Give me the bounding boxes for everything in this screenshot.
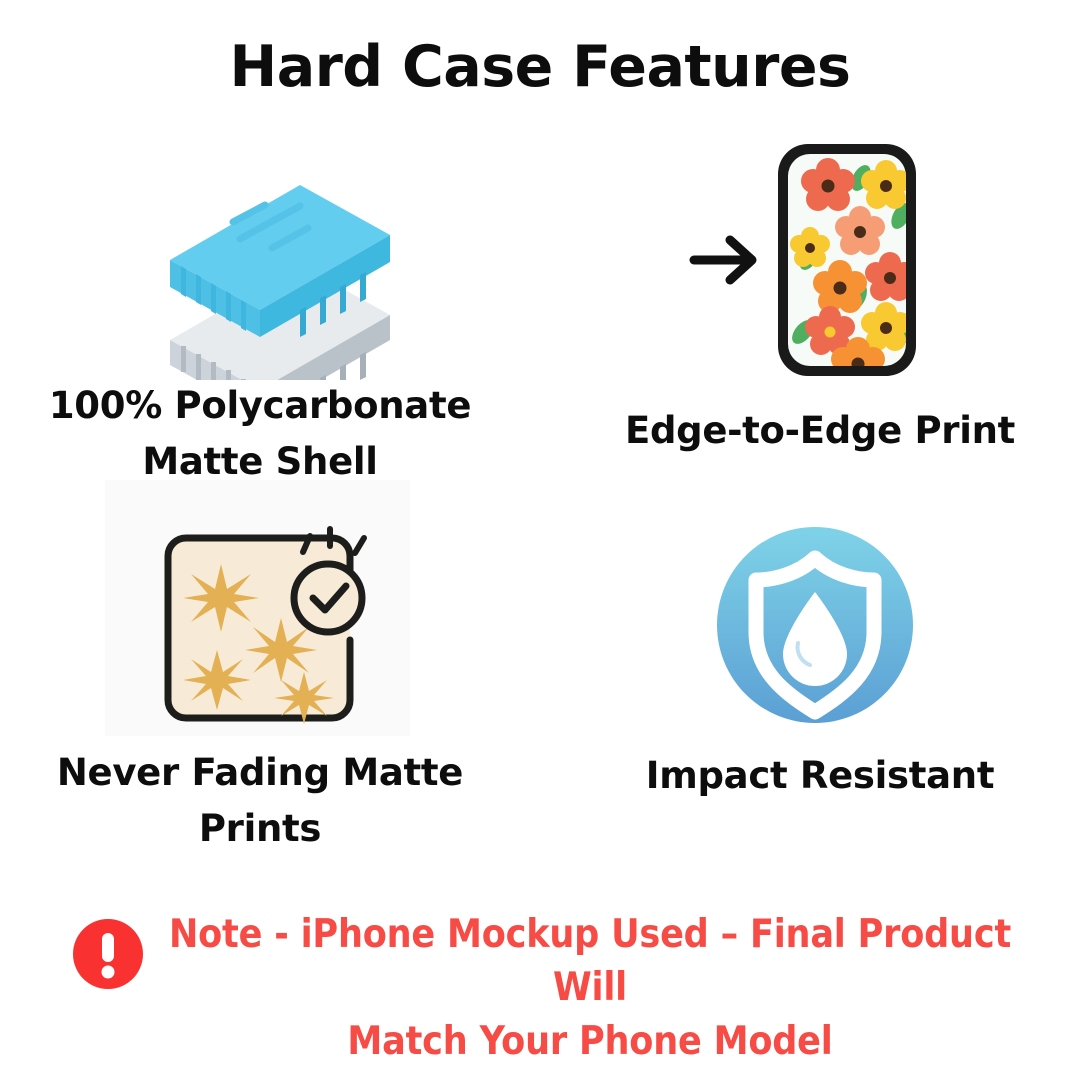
arrow-right-icon bbox=[694, 240, 752, 280]
infographic-page: Hard Case Features bbox=[0, 0, 1080, 1080]
sparkle-card-check-icon bbox=[0, 480, 520, 740]
shield-droplet-icon bbox=[560, 500, 1080, 750]
feature-impact-resistant: Impact Resistant bbox=[560, 500, 1080, 820]
feature-never-fading-prints: Never Fading Matte Prints bbox=[0, 480, 520, 850]
note-line-1: Note - iPhone Mockup Used – Final Produc… bbox=[150, 908, 1030, 1015]
check-circle-icon bbox=[294, 529, 364, 632]
feature-label-impact-resistant: Impact Resistant bbox=[590, 748, 1050, 804]
exclamation-circle-icon bbox=[72, 918, 144, 990]
feature-edge-to-edge-print: Edge-to-Edge Print bbox=[560, 120, 1080, 460]
note-text: Note - iPhone Mockup Used – Final Produc… bbox=[150, 908, 1030, 1068]
feature-polycarbonate-shell: 100% Polycarbonate Matte Shell bbox=[0, 160, 520, 480]
note-line-2: Match Your Phone Model bbox=[150, 1015, 1030, 1068]
note-banner: Note - iPhone Mockup Used – Final Produc… bbox=[0, 908, 1080, 1028]
page-title: Hard Case Features bbox=[0, 34, 1080, 100]
layered-slabs-icon bbox=[0, 160, 520, 380]
feature-label-edge-to-edge-print: Edge-to-Edge Print bbox=[590, 403, 1050, 459]
flower-phone-case-icon bbox=[560, 120, 1080, 400]
feature-label-never-fading-prints: Never Fading Matte Prints bbox=[30, 745, 490, 856]
feature-label-polycarbonate-shell: 100% Polycarbonate Matte Shell bbox=[30, 378, 490, 489]
